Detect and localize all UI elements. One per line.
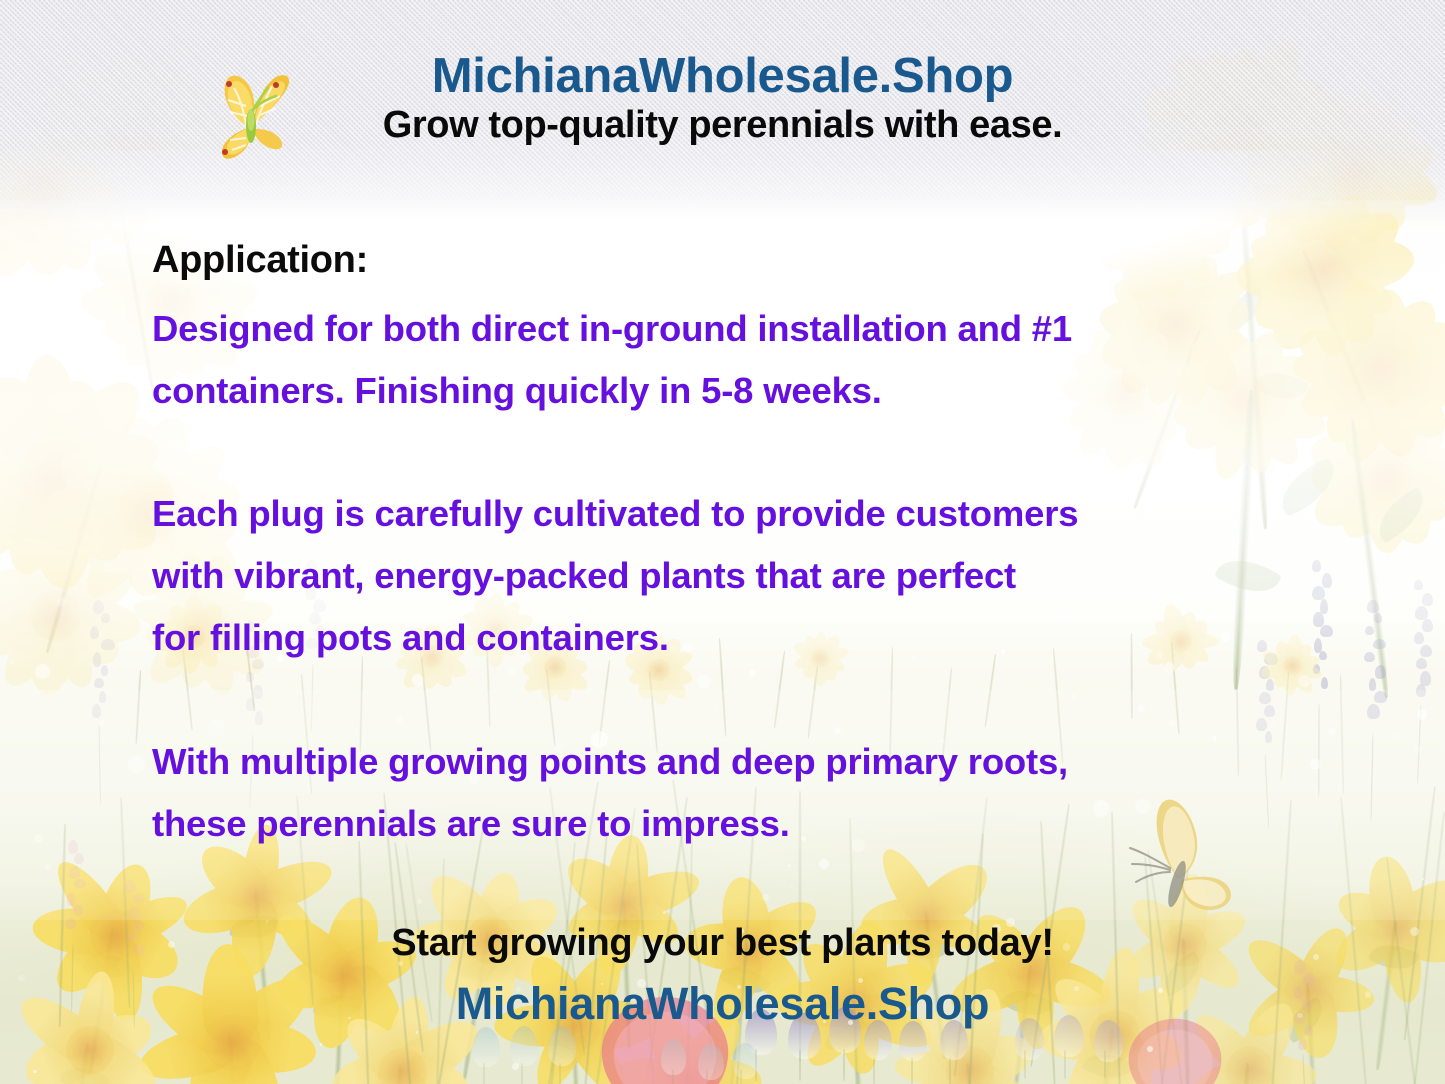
body-paragraph-1: Designed for both direct in-ground insta… <box>152 298 1072 422</box>
cta-text: Start growing your best plants today! <box>0 922 1445 965</box>
promo-card: MichianaWholesale.Shop Grow top-quality … <box>0 0 1445 1084</box>
body-paragraph-3: With multiple growing points and deep pr… <box>152 731 1068 855</box>
page-title: MichianaWholesale.Shop <box>0 48 1445 104</box>
body-paragraph-2: Each plug is carefully cultivated to pro… <box>152 483 1078 669</box>
tagline: Grow top-quality perennials with ease. <box>0 104 1445 147</box>
section-label: Application: <box>152 239 368 282</box>
footer-brand-url: MichianaWholesale.Shop <box>0 978 1445 1030</box>
